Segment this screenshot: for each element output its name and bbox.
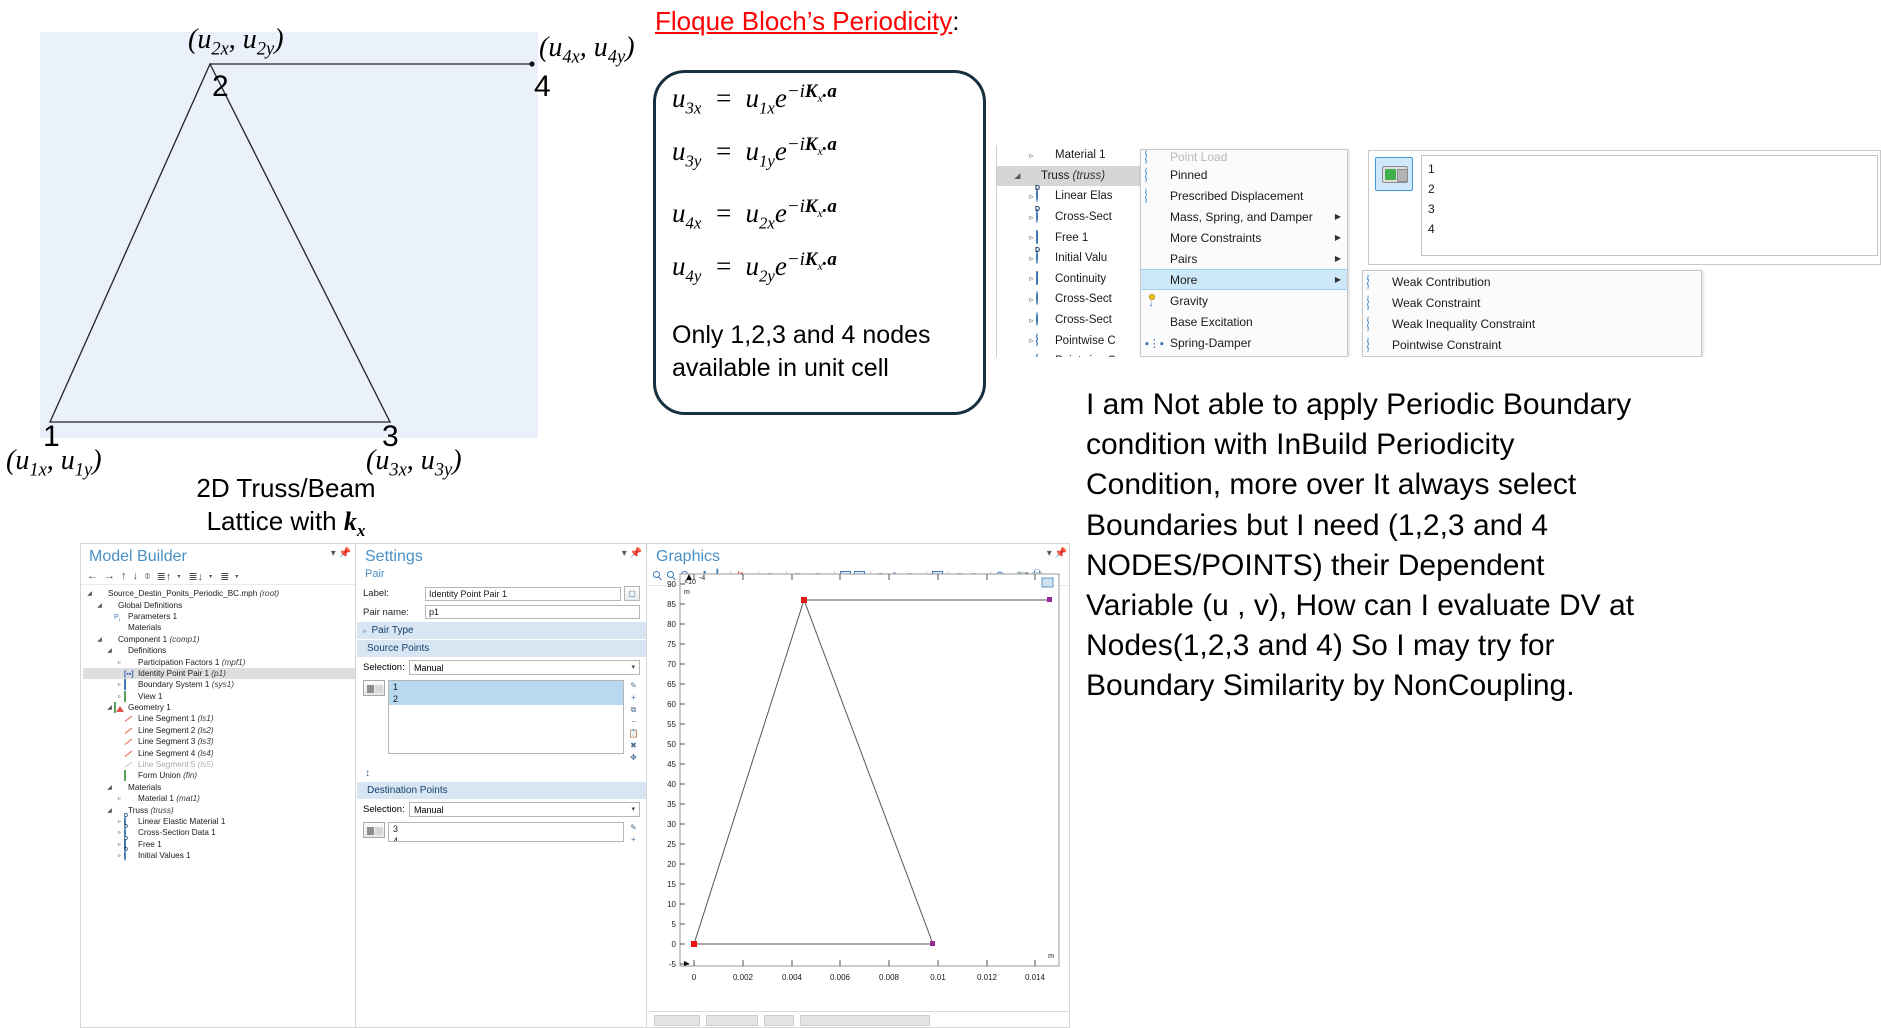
twisty-icon[interactable]: ▹ <box>1027 151 1036 160</box>
tree-row-initial-values[interactable]: ▹Initial Values 1 <box>83 850 355 861</box>
toolbar-show-icon[interactable]: ⌽ <box>144 570 151 583</box>
twisty-icon[interactable]: ▹ <box>115 841 124 848</box>
equation-row: u3x=u1xe−iKx.a <box>672 81 837 118</box>
twisty-icon[interactable]: ▹ <box>1027 192 1036 201</box>
svg-text:5: 5 <box>672 920 677 929</box>
twisty-icon[interactable]: ▹ <box>115 659 124 666</box>
model-builder-toolbar[interactable]: ← → ↑ ↓ ⌽ ≣↑ ▾ ≣↓ ▾ ≣ ▾ <box>81 568 355 585</box>
tree-row-label: Line Segment 4 (ls4) <box>138 749 214 758</box>
toolbar-collapse-icon[interactable]: ≣↓ <box>188 570 203 583</box>
view-icon <box>124 692 135 701</box>
lattice-caption-line2: Lattice with kx <box>136 505 436 542</box>
graphics-pane: Graphics ▾ 📌 ▾ ✚ ╋ ↯ ▾ ▾ ▾ ▾ <box>648 544 1070 1028</box>
twisty-icon[interactable]: ◢ <box>1013 171 1022 180</box>
graphics-title: Graphics <box>648 544 1070 568</box>
svg-text:20: 20 <box>667 860 676 869</box>
list-item[interactable]: 1 <box>389 681 623 693</box>
svg-text:85: 85 <box>667 600 676 609</box>
destination-selection-caption: Selection: <box>363 804 409 815</box>
menu-item-more-constraints[interactable]: More Constraints ▶ <box>1141 227 1347 248</box>
toolbar-forward-icon[interactable]: → <box>104 570 115 582</box>
add-icon[interactable]: + <box>627 834 640 846</box>
orientation-cube-icon <box>1042 578 1053 587</box>
svg-text:70: 70 <box>667 660 676 669</box>
section-destination-points[interactable]: Destination Points <box>357 781 646 799</box>
blank-icon <box>1145 231 1163 245</box>
svg-text:0.008: 0.008 <box>879 973 900 982</box>
toolbar-expand-icon[interactable]: ≣↑ <box>157 570 172 583</box>
spring-damper-icon: ▪⋮▪ <box>1145 336 1163 350</box>
materials-icon <box>114 783 125 792</box>
point-load-icon <box>1145 150 1163 164</box>
list-item[interactable]: 2 <box>1428 179 1871 199</box>
add-icon[interactable]: + <box>627 692 640 704</box>
chevron-right-icon: ▶ <box>1335 275 1341 284</box>
tree-row-label: Truss (truss) <box>1041 170 1105 182</box>
tree-row-label: Materials <box>128 783 161 792</box>
twisty-icon[interactable]: ▹ <box>1027 213 1036 222</box>
toolbar-up-icon[interactable]: ↑ <box>121 570 127 582</box>
twisty-icon[interactable]: ◢ <box>105 807 114 814</box>
tree-row-label: Parameters 1 <box>128 612 177 621</box>
chevron-right-icon: ▶ <box>1335 233 1341 242</box>
section-pair-type-label: Pair Type <box>372 625 414 636</box>
line-segment-icon <box>124 760 135 769</box>
tree-row-materials[interactable]: ◢Materials <box>83 782 355 793</box>
tree-row-label: Cross-Section Data 1 <box>138 828 216 837</box>
tree-row-label: Initial Valu <box>1055 252 1107 264</box>
context-menu-level-2[interactable]: Weak Contribution Weak Constraint Weak I… <box>1362 270 1702 357</box>
tree-row-materials-global[interactable]: Materials <box>83 622 355 633</box>
floquet-note-line1: Only 1,2,3 and 4 nodes <box>672 319 974 352</box>
paste-icon[interactable]: 📋 <box>627 728 640 740</box>
tree-row-label: Free 1 <box>138 840 162 849</box>
root-icon <box>94 589 105 598</box>
node4-marker <box>1047 597 1052 602</box>
status-segment <box>800 1015 930 1026</box>
twisty-icon[interactable]: ▹ <box>115 818 124 825</box>
tree-row-line-segment-5[interactable]: Line Segment 5 (ls5) <box>83 759 355 770</box>
tree-row-label: Materials <box>128 623 161 632</box>
chevron-down-icon[interactable]: ▾ <box>177 573 180 580</box>
initial-values-icon <box>1036 251 1051 265</box>
tree-row-label: Truss (truss) <box>128 806 174 815</box>
floquet-heading-colon: : <box>952 6 959 36</box>
pinned-icon <box>1145 168 1163 182</box>
node3-marker <box>930 941 935 946</box>
svg-text:45: 45 <box>667 760 676 769</box>
twisty-icon[interactable]: ◢ <box>95 602 104 609</box>
svg-text:0.014: 0.014 <box>1025 973 1046 982</box>
list-item[interactable]: 4 <box>389 835 623 842</box>
floquet-note: Only 1,2,3 and 4 nodes available in unit… <box>672 319 974 385</box>
svg-text:75: 75 <box>667 640 676 649</box>
svg-text:0.01: 0.01 <box>930 973 946 982</box>
selection-popup[interactable]: 1 2 3 4 <box>1368 150 1881 265</box>
lattice-caption: 2D Truss/Beam Lattice with kx <box>136 472 436 542</box>
tree-row-label: Material 1 <box>1055 149 1106 161</box>
geometry-icon <box>114 703 125 712</box>
comsol-context-menu-screenshot: ▹ Material 1 ◢ Truss (truss) ▹ Linear El… <box>996 145 1881 357</box>
svg-text:25: 25 <box>667 840 676 849</box>
line-segment-icon <box>124 749 135 758</box>
lattice-node-4-number: 4 <box>534 72 551 102</box>
continuity-icon <box>1036 272 1051 286</box>
lattice-svg <box>40 32 538 438</box>
destination-selection-box: 3 4 ✎ + <box>357 820 646 848</box>
gravity-icon <box>1145 294 1163 308</box>
remove-icon[interactable]: − <box>627 716 640 728</box>
svg-text:10: 10 <box>667 900 676 909</box>
svg-text:30: 30 <box>667 820 676 829</box>
graphics-dock-controls[interactable]: ▾ 📌 <box>1047 548 1067 559</box>
menu-item-mass-spring-damper[interactable]: Mass, Spring, and Damper ▶ <box>1141 206 1347 227</box>
menu-item-weak-inequality-constraint[interactable]: Weak Inequality Constraint <box>1363 313 1701 334</box>
component-icon <box>104 635 115 644</box>
selection-toggle-icon[interactable] <box>363 680 385 696</box>
twisty-icon[interactable]: ◢ <box>85 590 94 597</box>
svg-text:0.012: 0.012 <box>977 973 998 982</box>
form-union-icon <box>124 771 135 780</box>
materials-icon <box>124 794 135 803</box>
menu-item-spring-damper[interactable]: ▪⋮▪ Spring-Damper <box>1141 332 1347 353</box>
tree-row-label: Line Segment 3 (ls3) <box>138 737 214 746</box>
tree-row-parameters[interactable]: PiParameters 1 <box>83 611 355 622</box>
pair-name-input[interactable]: p1 <box>425 605 640 619</box>
tree-row-line-segment-3[interactable]: Line Segment 3 (ls3) <box>83 736 355 747</box>
line-segment-icon <box>124 726 135 735</box>
clear-icon[interactable]: ✖ <box>627 740 640 752</box>
tree-row-label: Line Segment 2 (ls2) <box>138 726 214 735</box>
definitions-icon <box>114 646 125 655</box>
tree-row-line-segment-4[interactable]: Line Segment 4 (ls4) <box>83 747 355 758</box>
source-points-list[interactable]: 1 2 <box>388 680 624 754</box>
tree-row-label: Line Segment 1 (ls1) <box>138 714 214 723</box>
lattice-node-4-coords: (u4x, u4y) <box>539 32 635 68</box>
tree-row-label: Component 1 (comp1) <box>118 635 199 644</box>
floquet-note-line2: available in unit cell <box>672 352 974 385</box>
section-source-points-label: Source Points <box>367 643 429 654</box>
lattice-node-1-coords: (u1x, u1y) <box>6 445 102 481</box>
toggle-switch-icon <box>1382 166 1408 183</box>
tree-row-view[interactable]: ▹View 1 <box>83 691 355 702</box>
tree-row-label: Linear Elas <box>1055 190 1113 202</box>
menu-item-base-excitation[interactable]: Base Excitation <box>1141 311 1347 332</box>
comsol-application-window: Model Builder ▾ 📌 ← → ↑ ↓ ⌽ ≣↑ ▾ ≣↓ ▾ ≣ … <box>80 543 1070 1028</box>
svg-text:0.006: 0.006 <box>830 973 851 982</box>
twisty-icon[interactable]: ◢ <box>95 636 104 643</box>
tree-row-label: Cross-Sect <box>1055 293 1112 305</box>
weak-icon <box>1367 338 1385 352</box>
floquet-heading-underlined: Floque Bloch’s Periodicity <box>655 6 952 36</box>
twisty-icon[interactable]: ▹ <box>1027 295 1036 304</box>
source-selection-caption: Selection: <box>363 662 409 673</box>
settings-subtitle: Pair <box>357 568 646 584</box>
blank-icon <box>1145 252 1163 266</box>
base-excitation-icon <box>1145 315 1163 329</box>
question-paragraph: I am Not able to apply Periodic Boundary… <box>1086 385 1646 707</box>
plot-svg: -5 0 5 10 15 20 25 30 35 40 45 50 55 60 <box>652 566 1067 1006</box>
tree-row-global-definitions[interactable]: ◢Global Definitions <box>83 599 355 610</box>
tree-row-label: Initial Values 1 <box>138 851 191 860</box>
destination-selection-row: Selection: Manual <box>357 799 646 820</box>
prescribed-displacement-icon <box>1145 189 1163 203</box>
blank-icon <box>1145 210 1163 224</box>
global-definitions-icon <box>104 601 115 610</box>
tree-row-line-segment-2[interactable]: Line Segment 2 (ls2) <box>83 725 355 736</box>
destination-list-tools[interactable]: ✎ + <box>627 822 640 846</box>
node1-marker <box>691 941 697 947</box>
tree-row-label: Continuity <box>1055 273 1106 285</box>
tree-row-label: View 1 <box>138 692 162 701</box>
tree-row-label: Material 1 (mat1) <box>138 794 200 803</box>
boundary-system-icon <box>124 680 135 689</box>
menu-item-gravity[interactable]: Gravity <box>1141 290 1347 311</box>
floquet-heading: Floque Bloch’s Periodicity: <box>655 6 1075 37</box>
equation-row: u3y=u1ye−iKx.a <box>672 134 837 171</box>
svg-text:60: 60 <box>667 700 676 709</box>
selection-toggle-icon[interactable] <box>363 822 385 838</box>
svg-text:90: 90 <box>667 580 676 589</box>
tree-row-label: Cross-Sect <box>1055 211 1112 223</box>
label-toggle-button[interactable]: ▢ <box>624 586 640 601</box>
list-item[interactable]: 1 <box>1428 159 1871 179</box>
svg-text:0.004: 0.004 <box>782 973 803 982</box>
twisty-icon[interactable]: ▹ <box>1027 254 1036 263</box>
graphics-plot[interactable]: -5 0 5 10 15 20 25 30 35 40 45 50 55 60 <box>652 566 1067 1006</box>
cross-section-icon <box>1036 292 1051 306</box>
twisty-icon[interactable]: ▹ <box>1027 233 1036 242</box>
twisty-icon[interactable]: ◢ <box>105 784 114 791</box>
source-selection-combo[interactable]: Manual <box>409 660 640 675</box>
section-pair-type[interactable]: ▹ Pair Type <box>357 621 646 639</box>
destination-selection-combo[interactable]: Manual <box>409 802 640 817</box>
svg-text:15: 15 <box>667 880 676 889</box>
tree-row-label: Form Union (fin) <box>138 771 197 780</box>
tree-row-label: Definitions <box>128 646 166 655</box>
svg-text:-5: -5 <box>669 960 677 969</box>
toolbar-down-icon[interactable]: ↓ <box>133 570 139 582</box>
tree-row-form-union[interactable]: Form Union (fin) <box>83 770 355 781</box>
tree-row-boundary-system[interactable]: ▹Boundary System 1 (sys1) <box>83 679 355 690</box>
equation-row: u4x=u2xe−iKx.a <box>672 196 837 233</box>
linear-elastic-icon <box>1036 189 1051 203</box>
svg-text:40: 40 <box>667 780 676 789</box>
source-selection-box: 1 2 ✎ + ⧉ − 📋 ✖ ✥ <box>357 678 646 766</box>
svg-text:0: 0 <box>672 940 677 949</box>
menu-item-weak-contribution[interactable]: Weak Contribution <box>1363 271 1701 292</box>
settings-dock-controls[interactable]: ▾ 📌 <box>622 548 642 559</box>
line-segment-icon <box>124 714 135 723</box>
settings-title: Settings <box>357 544 646 568</box>
y-axis-unit: m <box>684 589 690 596</box>
label-field-row: Label: Identity Point Pair 1 ▢ <box>357 584 646 603</box>
status-segment <box>706 1015 758 1026</box>
menu-item-weak-constraint[interactable]: Weak Constraint <box>1363 292 1701 313</box>
parameters-icon: Pi <box>114 612 125 621</box>
tree-row-label: Global Definitions <box>118 601 182 610</box>
tree-row-label: Line Segment 5 (ls5) <box>138 760 214 769</box>
tree-row-participation-factors[interactable]: ▹Participation Factors 1 (mpf1) <box>83 656 355 667</box>
tree-row-geometry[interactable]: ◢Geometry 1 <box>83 702 355 713</box>
twisty-icon[interactable]: ▹ <box>115 829 124 836</box>
tree-row-material-1[interactable]: ▹Material 1 (mat1) <box>83 793 355 804</box>
active-toggle-button[interactable] <box>1375 157 1413 191</box>
blank-icon <box>1145 273 1163 287</box>
status-segment <box>654 1015 700 1026</box>
destination-points-list[interactable]: 3 4 <box>388 822 624 842</box>
weak-icon <box>1367 275 1385 289</box>
weak-icon <box>1367 296 1385 310</box>
free-icon <box>1036 231 1051 245</box>
model-builder-tree[interactable]: ◢Source_Destin_Ponits_Periodic_BC.mph (r… <box>81 585 355 861</box>
section-source-points[interactable]: Source Points <box>357 639 646 657</box>
equation-row: u4y=u2ye−iKx.a <box>672 249 837 286</box>
cross-section-icon <box>1036 313 1051 327</box>
cross-section-icon <box>1036 210 1051 224</box>
tree-row-identity-point-pair[interactable]: [▪▪]Identity Point Pair 1 (p1) <box>83 668 355 679</box>
svg-text:-4: -4 <box>699 575 705 582</box>
chevron-right-icon[interactable]: ▹ <box>363 627 367 635</box>
materials-icon <box>114 623 125 632</box>
pair-name-field-row: Pair name: p1 <box>357 603 646 621</box>
twisty-icon[interactable]: ▹ <box>115 681 124 688</box>
menu-item-pointwise-constraint[interactable]: Pointwise Constraint <box>1363 334 1701 355</box>
settings-pane: Settings ▾ 📌 Pair Label: Identity Point … <box>357 544 647 1028</box>
line-segment-icon <box>124 737 135 746</box>
lattice-node-2-coords: (u2x, u2y) <box>188 24 284 60</box>
selection-list[interactable]: 1 2 3 4 <box>1421 155 1878 256</box>
zoom-selected-icon[interactable]: ✥ <box>627 752 640 764</box>
y-axis-exponent: ×10 <box>684 579 696 586</box>
truss-icon <box>1022 169 1037 183</box>
source-selection-row: Selection: Manual <box>357 657 646 678</box>
pointwise-icon <box>1036 354 1051 357</box>
twisty-icon[interactable]: ▹ <box>1027 316 1036 325</box>
tree-row-label: Boundary System 1 (sys1) <box>138 680 234 689</box>
tree-row-component[interactable]: ◢Component 1 (comp1) <box>83 634 355 645</box>
twisty-icon[interactable]: ◢ <box>105 647 114 654</box>
lattice-diagram: 2 1 3 4 <box>40 32 538 438</box>
tree-row-root[interactable]: ◢Source_Destin_Ponits_Periodic_BC.mph (r… <box>83 588 355 599</box>
list-item[interactable]: 4 <box>1428 219 1871 239</box>
context-menu-level-1[interactable]: Point Load Pinned Prescribed Displacemen… <box>1140 149 1348 357</box>
graphics-status-bar <box>648 1011 1070 1028</box>
list-item[interactable]: 3 <box>389 823 623 835</box>
tree-row-label: Participation Factors 1 (mpf1) <box>138 658 245 667</box>
menu-item-prescribed-displacement[interactable]: Prescribed Displacement <box>1141 185 1347 206</box>
lattice-node-2-number: 2 <box>212 72 229 102</box>
label-input[interactable]: Identity Point Pair 1 <box>425 587 621 601</box>
menu-item-pinned[interactable]: Pinned <box>1141 164 1347 185</box>
tree-row-line-segment-1[interactable]: Line Segment 1 (ls1) <box>83 713 355 724</box>
svg-text:50: 50 <box>667 740 676 749</box>
pointwise-icon <box>1036 334 1051 348</box>
tree-row-definitions[interactable]: ◢Definitions <box>83 645 355 656</box>
menu-item-pairs[interactable]: Pairs ▶ <box>1141 248 1347 269</box>
lattice-caption-line1: 2D Truss/Beam <box>136 472 436 505</box>
chevron-right-icon: ▶ <box>1335 212 1341 221</box>
tree-row-label: Geometry 1 <box>128 703 171 712</box>
tree-row-label: Pointwise C <box>1055 355 1116 357</box>
chevron-right-icon: ▶ <box>1335 254 1341 263</box>
svg-text:35: 35 <box>667 800 676 809</box>
tree-row-label: Identity Point Pair 1 (p1) <box>138 669 226 678</box>
twisty-icon[interactable]: ▹ <box>1027 274 1036 283</box>
label-field-caption: Label: <box>363 588 425 599</box>
svg-text:0: 0 <box>692 973 697 982</box>
floquet-equation-box: u3x=u1xe−iKx.a u3y=u1ye−iKx.a u4x=u2xe−i… <box>653 70 986 415</box>
identity-point-pair-icon: [▪▪] <box>124 669 135 678</box>
svg-text:55: 55 <box>667 720 676 729</box>
edit-icon[interactable]: ✎ <box>627 822 640 834</box>
tree-row-label: Pointwise C <box>1055 335 1116 347</box>
section-destination-points-label: Destination Points <box>367 785 448 796</box>
participation-factors-icon <box>124 658 135 667</box>
model-builder-pane: Model Builder ▾ 📌 ← → ↑ ↓ ⌽ ≣↑ ▾ ≣↓ ▾ ≣ … <box>81 544 356 1028</box>
node2-marker <box>801 597 807 603</box>
twisty-icon[interactable]: ▹ <box>115 795 124 802</box>
model-builder-title: Model Builder <box>81 544 355 568</box>
weak-icon <box>1367 317 1385 331</box>
x-axis-unit: m <box>1048 953 1054 960</box>
toolbar-back-icon[interactable]: ← <box>87 570 98 582</box>
pair-name-caption: Pair name: <box>363 607 425 618</box>
svg-text:0.002: 0.002 <box>733 973 754 982</box>
twisty-icon[interactable]: ▹ <box>115 693 124 700</box>
tree-row-label: Cross-Sect <box>1055 314 1112 326</box>
toolbar-list-icon[interactable]: ≣ <box>220 570 229 583</box>
list-item[interactable]: 3 <box>1428 199 1871 219</box>
material-icon <box>1036 148 1051 162</box>
menu-item-more[interactable]: More ▶ <box>1141 269 1347 290</box>
twisty-icon[interactable]: ▹ <box>1027 336 1036 345</box>
floquet-equation-list: u3x=u1xe−iKx.a u3y=u1ye−iKx.a u4x=u2xe−i… <box>672 81 837 302</box>
initial-values-icon <box>124 851 135 860</box>
model-builder-dock-controls[interactable]: ▾ 📌 <box>331 548 351 559</box>
chevron-down-icon[interactable]: ▾ <box>235 573 238 580</box>
tree-row-label: Linear Elastic Material 1 <box>138 817 225 826</box>
edit-icon[interactable]: ✎ <box>627 680 640 692</box>
tree-row-label: Free 1 <box>1055 232 1088 244</box>
menu-item-point-load[interactable]: Point Load <box>1141 150 1347 164</box>
source-list-tools[interactable]: ✎ + ⧉ − 📋 ✖ ✥ <box>627 680 640 764</box>
tree-row-label: Source_Destin_Ponits_Periodic_BC.mph (ro… <box>108 589 279 598</box>
status-segment <box>764 1015 794 1026</box>
twisty-icon[interactable]: ▹ <box>115 852 124 859</box>
svg-text:80: 80 <box>667 620 676 629</box>
svg-text:65: 65 <box>667 680 676 689</box>
twisty-icon[interactable]: ◢ <box>105 704 114 711</box>
chevron-down-icon[interactable]: ▾ <box>209 573 212 580</box>
list-item[interactable]: 2 <box>389 693 623 705</box>
source-active-toggle[interactable]: ↕ <box>357 766 646 781</box>
copy-icon[interactable]: ⧉ <box>627 704 640 716</box>
